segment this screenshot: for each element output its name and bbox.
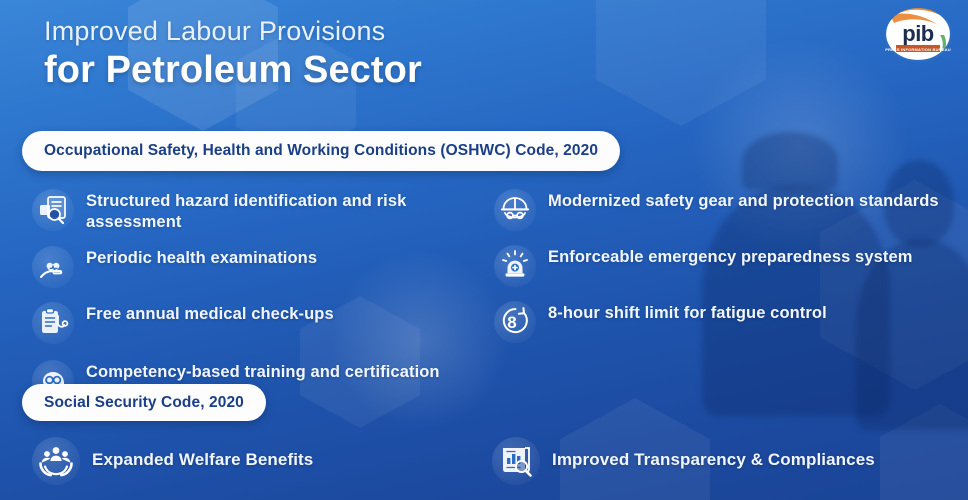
emergency-siren-icon (492, 242, 538, 288)
list-item-label: Structured hazard identification and ris… (86, 186, 460, 233)
oshwc-left-column: Structured hazard identification and ris… (30, 186, 460, 413)
list-item-label: Periodic health examinations (86, 243, 317, 269)
safety-helmet-goggles-icon (492, 186, 538, 232)
clipboard-stethoscope-icon (30, 299, 76, 345)
pib-logo: pib PRESS INFORMATION BUREAU (882, 5, 954, 65)
title-line-2: for Petroleum Sector (44, 50, 422, 92)
infographic-canvas: Improved Labour Provisions for Petroleum… (0, 0, 968, 500)
eight-hour-clock-icon: 8 (492, 298, 538, 344)
hexagon-watermark (596, 0, 766, 126)
section-pill-social-security: Social Security Code, 2020 (22, 384, 266, 421)
svg-text:8: 8 (507, 313, 516, 332)
list-item: Enforceable emergency preparedness syste… (492, 242, 952, 288)
list-item-label: Improved Transparency & Compliances (552, 449, 875, 471)
list-item: Expanded Welfare Benefits (30, 434, 490, 486)
list-item-label: 8-hour shift limit for fatigue control (548, 298, 827, 324)
list-item: Periodic health examinations (30, 243, 460, 289)
page-title: Improved Labour Provisions for Petroleum… (44, 16, 422, 92)
list-item-label: Competency-based training and certificat… (86, 357, 440, 383)
pill-label: Social Security Code, 2020 (44, 394, 244, 412)
list-item-label: Enforceable emergency preparedness syste… (548, 242, 913, 268)
list-item: Improved Transparency & Compliances (490, 434, 950, 486)
list-item-label: Expanded Welfare Benefits (92, 449, 313, 471)
title-line-1: Improved Labour Provisions (44, 16, 422, 48)
svg-text:PRESS INFORMATION BUREAU: PRESS INFORMATION BUREAU (885, 47, 951, 52)
list-item-label: Modernized safety gear and protection st… (548, 186, 939, 212)
hand-heart-health-icon (30, 243, 76, 289)
list-item: Free annual medical check-ups (30, 299, 460, 345)
hands-holding-people-icon (30, 434, 82, 486)
section-pill-oshwc: Occupational Safety, Health and Working … (22, 131, 620, 171)
report-chart-search-icon (490, 434, 542, 486)
list-item: Modernized safety gear and protection st… (492, 186, 952, 232)
list-item: Structured hazard identification and ris… (30, 186, 460, 233)
svg-text:pib: pib (902, 21, 934, 46)
document-search-icon (30, 186, 76, 232)
worker-silhouette (742, 132, 838, 190)
social-security-items: Expanded Welfare Benefits (30, 434, 950, 486)
list-item: 8 8-hour shift limit for fatigue control (492, 298, 952, 344)
list-item-label: Free annual medical check-ups (86, 299, 334, 325)
pill-label: Occupational Safety, Health and Working … (44, 142, 598, 160)
oshwc-right-column: Modernized safety gear and protection st… (492, 186, 952, 354)
